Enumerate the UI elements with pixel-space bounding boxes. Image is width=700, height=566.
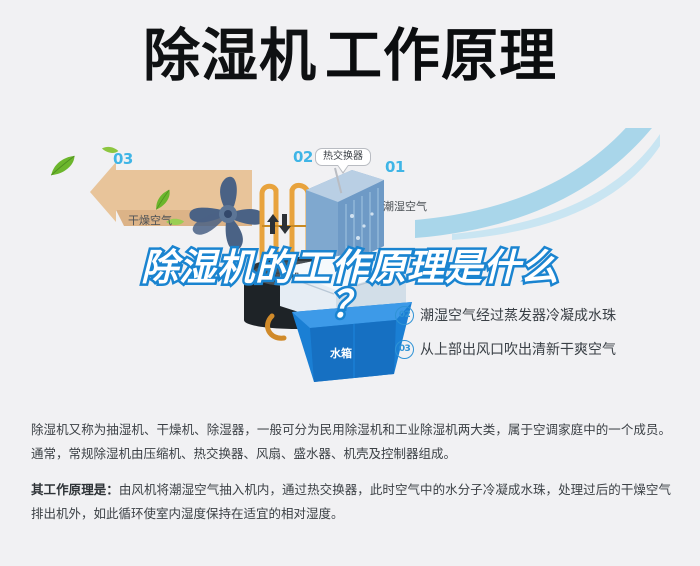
humid-air-swoosh-icon	[360, 128, 660, 248]
paragraph-2-text: 由风机将潮湿空气抽入机内，通过热交换器，此时空气中的水分子冷凝成水珠，处理过后的…	[31, 482, 671, 521]
heat-exchanger-callout: 热交换器	[315, 148, 371, 166]
list-item-label: 潮湿空气经过蒸发器冷凝成水珠	[420, 305, 616, 325]
water-tank-icon	[236, 250, 416, 390]
label-compressor: 压缩机	[270, 269, 300, 284]
body-copy: 除湿机又称为抽湿机、干燥机、除湿器，一般可分为民用除湿机和工业除湿机两大类，属于…	[31, 418, 671, 538]
paragraph-2: 其工作原理是：由风机将潮湿空气抽入机内，通过热交换器，此时空气中的水分子冷凝成水…	[31, 478, 671, 527]
poster-canvas: 除湿机工作原理	[0, 0, 700, 566]
page-title: 除湿机工作原理	[0, 28, 700, 85]
list-item: 03 从上部出风口吹出清新干爽空气	[395, 332, 695, 366]
paragraph-2-label: 其工作原理是：	[31, 482, 119, 497]
page-title-part1: 除湿机	[143, 23, 317, 89]
illustration-badge-03: 03	[113, 150, 133, 168]
paragraph-1: 除湿机又称为抽湿机、干燥机、除湿器，一般可分为民用除湿机和工业除湿机两大类，属于…	[31, 418, 671, 467]
status-badge: 02	[395, 306, 414, 325]
label-water-tank: 水箱	[330, 345, 352, 361]
list-item: 02 潮湿空气经过蒸发器冷凝成水珠	[395, 298, 695, 332]
illustration-badge-01: 01	[385, 158, 405, 176]
illustration-badge-02: 02	[293, 148, 313, 166]
page-title-part2: 工作原理	[325, 23, 557, 89]
list-item-label: 从上部出风口吹出清新干爽空气	[420, 339, 616, 359]
step-list: 02 潮湿空气经过蒸发器冷凝成水珠 03 从上部出风口吹出清新干爽空气	[395, 298, 695, 366]
label-dry-air: 干燥空气	[128, 212, 172, 228]
status-badge: 03	[395, 340, 414, 359]
label-humid-air: 潮湿空气	[383, 198, 427, 214]
